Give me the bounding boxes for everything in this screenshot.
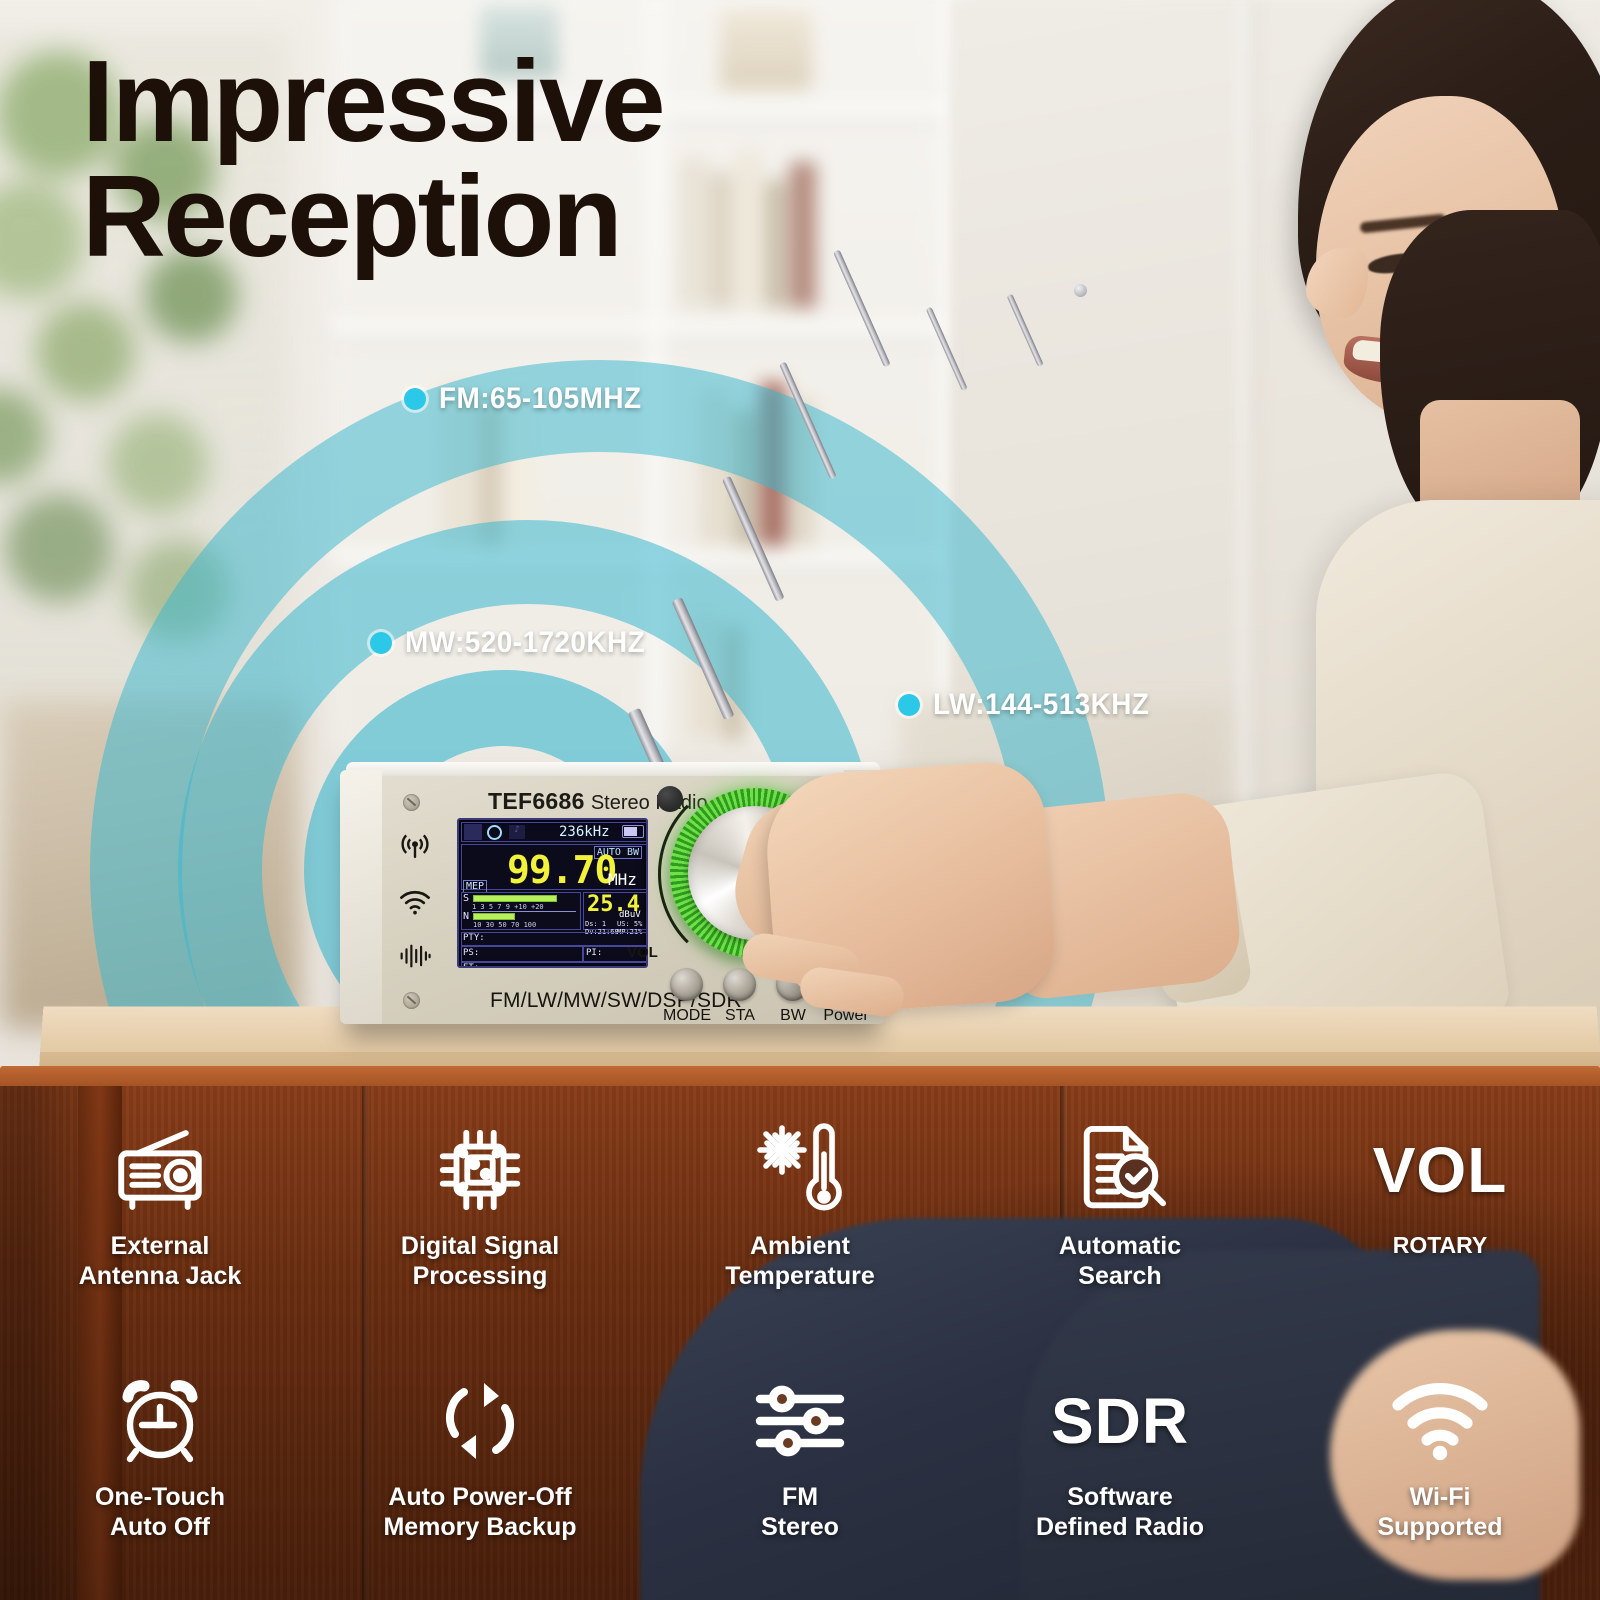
wifi-icon <box>1390 1367 1490 1475</box>
lcd-n-meter-scale: 10 30 50 70 100 <box>473 921 536 929</box>
headline-line-2: Reception <box>82 159 842 274</box>
feature-caption: Digital Signal Processing <box>401 1232 559 1291</box>
lcd-s-meter-bar <box>473 895 557 902</box>
feature-external-antenna-jack: External Antenna Jack <box>0 1098 320 1349</box>
feature-caption: Ambient Temperature <box>725 1232 875 1291</box>
feature-wifi-supported: Wi-Fi Supported <box>1280 1349 1600 1600</box>
ir-sensor <box>657 786 683 812</box>
refresh-cycle-icon <box>434 1367 526 1475</box>
feature-caption: Automatic Search <box>1059 1232 1181 1291</box>
feature-one-touch-auto-off: One-Touch Auto Off <box>0 1349 320 1600</box>
document-search-icon <box>1071 1116 1169 1224</box>
bullet-dot-icon <box>404 388 426 410</box>
feature-fm-stereo: FM Stereo <box>640 1349 960 1600</box>
feature-caption: External Antenna Jack <box>79 1232 242 1291</box>
product-marketing-banner: Impressive Reception FM:65-105MHZ MW:520… <box>0 0 1600 1600</box>
lcd-pi-label: PI: <box>586 948 602 958</box>
lcd-n-meter-label: N <box>463 911 469 922</box>
band-label-lw: LW:144-513KHZ <box>898 688 1166 722</box>
feature-caption: FM Stereo <box>761 1483 839 1542</box>
vol-label: VOL <box>627 944 658 961</box>
band-label-fm: FM:65-105MHZ <box>404 382 657 416</box>
feature-ambient-temperature: Ambient Temperature <box>640 1098 960 1349</box>
thermometer-snowflake-icon <box>754 1116 846 1224</box>
bullet-dot-icon <box>370 632 392 654</box>
stereo-indicator-icon <box>487 825 502 840</box>
lcd-frequency-unit: MHz <box>608 870 637 889</box>
lcd-bandwidth: 236kHz <box>559 824 610 840</box>
sliders-icon <box>752 1367 848 1475</box>
feature-caption: Software Defined Radio <box>1036 1483 1204 1542</box>
lcd-s-meter-scale: 1 3 5 7 9 +10 +20 <box>472 903 544 911</box>
alarm-clock-icon <box>114 1367 206 1475</box>
sdr-big-label: SDR <box>1051 1367 1189 1475</box>
feature-auto-power-off: Auto Power-Off Memory Backup <box>320 1349 640 1600</box>
feature-caption: ROTARY <box>1393 1232 1488 1259</box>
lcd-n-meter-bar <box>473 913 515 920</box>
antenna-tip <box>1074 284 1087 297</box>
lcd-frequency: 99.70 <box>507 848 616 892</box>
lcd-display: ♪ 236kHz AUTO BW 99.70 MHz MEP S 1 3 5 7… <box>457 818 648 968</box>
feature-grid: External Antenna Jack <box>0 1098 1600 1600</box>
feature-automatic-search: Automatic Search <box>960 1098 1280 1349</box>
vol-big-label: VOL <box>1373 1116 1508 1224</box>
feature-caption: One-Touch Auto Off <box>95 1483 225 1542</box>
screw <box>403 794 420 811</box>
feature-vol-rotary: VOL ROTARY <box>1280 1098 1600 1349</box>
band-label-mw-text: MW:520-1720KHZ <box>405 626 645 660</box>
lcd-signal-unit: dBuV <box>619 910 641 920</box>
radio-left-endcap <box>340 770 382 1024</box>
wifi-icon <box>398 888 432 923</box>
feature-caption: Wi-Fi Supported <box>1378 1483 1503 1542</box>
mode-button[interactable] <box>670 968 703 1001</box>
lcd-s-meter-label: S <box>463 893 469 904</box>
screw <box>403 992 420 1009</box>
headline-line-1: Impressive <box>82 44 842 159</box>
lcd-pty-label: PTY: <box>463 933 485 943</box>
model-name: TEF6686 <box>488 788 585 814</box>
band-label-fm-text: FM:65-105MHZ <box>439 382 641 416</box>
lcd-stat-us: US: 5% <box>617 920 642 928</box>
lcd-ps-label: PS: <box>463 948 479 958</box>
band-label-lw-text: LW:144-513KHZ <box>933 688 1149 722</box>
lcd-stat-ds: Ds: 1 <box>585 920 606 928</box>
chip-icon <box>433 1116 527 1224</box>
band-label-mw: MW:520-1720KHZ <box>370 626 663 660</box>
feature-sdr: SDR Software Defined Radio <box>960 1349 1280 1600</box>
feature-digital-signal-processing: Digital Signal Processing <box>320 1098 640 1349</box>
broadcast-antenna-icon <box>398 830 432 869</box>
feature-caption: Auto Power-Off Memory Backup <box>383 1483 576 1542</box>
radio-icon <box>112 1116 208 1224</box>
audio-wave-icon <box>398 942 432 975</box>
lcd-et-label: ET: <box>463 963 479 968</box>
bullet-dot-icon <box>898 694 920 716</box>
page-title: Impressive Reception <box>82 44 842 274</box>
